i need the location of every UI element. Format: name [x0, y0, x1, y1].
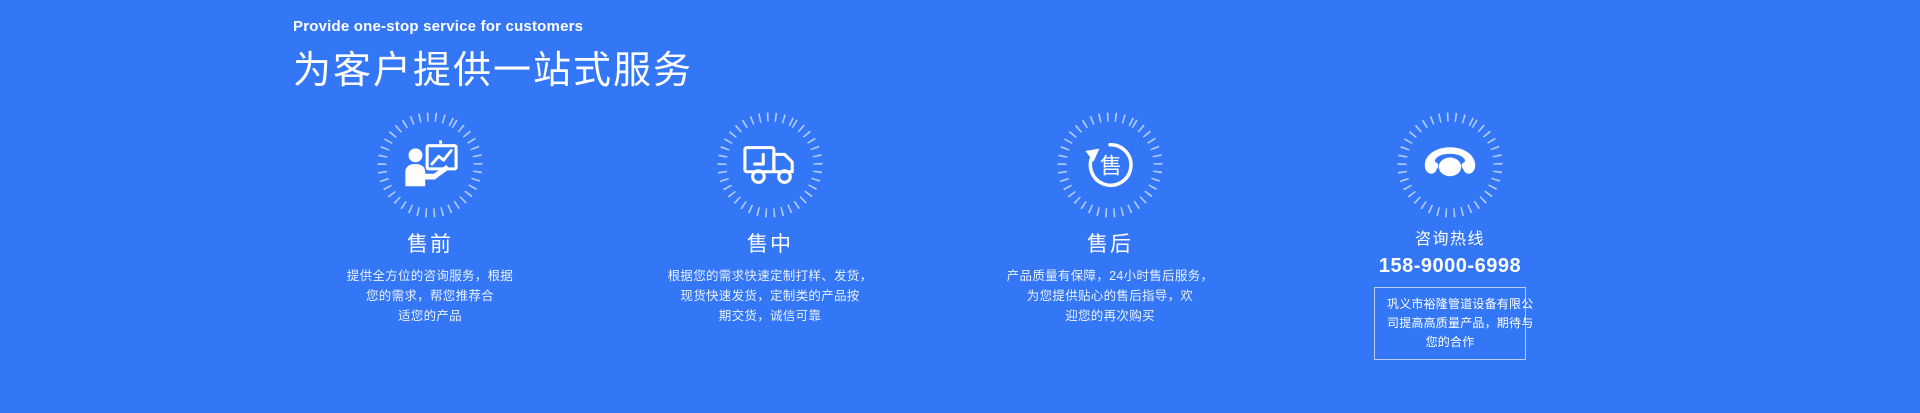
presales-desc-line-3: 适您的产品	[315, 306, 545, 326]
hotline-number[interactable]: 158-9000-6998	[1379, 253, 1521, 279]
service-cards: 售前 提供全方位的咨询服务，根据 您的需求，帮您推荐合 适您的产品	[280, 110, 1600, 360]
presales-desc-line-2: 您的需求，帮您推荐合	[315, 286, 545, 306]
hotline-info-box: 巩义市裕隆管道设备有限公 司提高高质量产品，期待与 您的合作	[1374, 287, 1526, 360]
presenter-board-icon	[402, 137, 458, 193]
aftersales-icon-wrap: 售	[1055, 110, 1165, 220]
hotline-icon-wrap	[1395, 110, 1505, 220]
hotline-info-line-2: 司提高高质量产品，期待与	[1387, 314, 1513, 333]
presales-title: 售前	[407, 232, 453, 257]
service-banner: Provide one-stop service for customers 为…	[0, 0, 1920, 413]
service-card-hotline[interactable]: 咨询热线 158-9000-6998 巩义市裕隆管道设备有限公 司提高高质量产品…	[1300, 110, 1600, 360]
service-card-insales[interactable]: 售中 根据您的需求快速定制打样、发货， 现货快速发货，定制类的产品按 期交货，诚…	[620, 110, 920, 326]
insales-icon-wrap	[715, 110, 825, 220]
insales-desc-line-1: 根据您的需求快速定制打样、发货，	[655, 266, 885, 286]
svg-text:售: 售	[1100, 154, 1122, 179]
insales-description: 根据您的需求快速定制打样、发货， 现货快速发货，定制类的产品按 期交货，诚信可靠	[655, 266, 885, 326]
presales-icon-wrap	[375, 110, 485, 220]
presales-description: 提供全方位的咨询服务，根据 您的需求，帮您推荐合 适您的产品	[315, 266, 545, 326]
hotline-info-line-1: 巩义市裕隆管道设备有限公	[1387, 295, 1513, 314]
delivery-truck-icon	[742, 137, 798, 193]
after-sales-refresh-icon: 售	[1082, 137, 1138, 193]
presales-desc-line-1: 提供全方位的咨询服务，根据	[315, 266, 545, 286]
banner-heading: Provide one-stop service for customers 为…	[293, 18, 1193, 96]
banner-title: 为客户提供一站式服务	[293, 48, 1193, 96]
service-card-presales[interactable]: 售前 提供全方位的咨询服务，根据 您的需求，帮您推荐合 适您的产品	[280, 110, 580, 326]
hotline-info-line-3: 您的合作	[1387, 333, 1513, 352]
banner-eyebrow: Provide one-stop service for customers	[293, 18, 1193, 36]
insales-desc-line-2: 现货快速发货，定制类的产品按	[655, 286, 885, 306]
insales-title: 售中	[747, 232, 793, 257]
telephone-icon	[1422, 137, 1478, 193]
aftersales-title: 售后	[1087, 232, 1133, 257]
hotline-title: 咨询热线	[1415, 230, 1485, 251]
service-card-aftersales[interactable]: 售 售后 产品质量有保障，24小时售后服务， 为您提供贴心的售后指导，欢 迎您的…	[960, 110, 1260, 326]
aftersales-desc-line-2: 为您提供贴心的售后指导，欢	[995, 286, 1225, 306]
aftersales-desc-line-1: 产品质量有保障，24小时售后服务，	[995, 266, 1225, 286]
aftersales-description: 产品质量有保障，24小时售后服务， 为您提供贴心的售后指导，欢 迎您的再次购买	[995, 266, 1225, 326]
aftersales-desc-line-3: 迎您的再次购买	[995, 306, 1225, 326]
insales-desc-line-3: 期交货，诚信可靠	[655, 306, 885, 326]
